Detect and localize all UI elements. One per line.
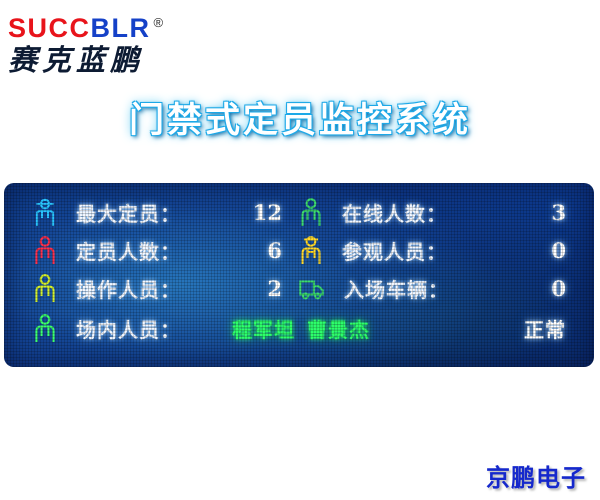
person-icon <box>32 313 58 343</box>
person-icon <box>32 235 58 265</box>
registered-trademark-icon: ® <box>154 15 164 30</box>
led-value: 2 <box>267 276 282 301</box>
led-row: 定员人数： 6 参观人员： 0 <box>32 231 566 269</box>
led-content: 最大定员： 12 在线人数： 3 <box>32 193 566 357</box>
page-title: 门禁式定员监控系统 <box>0 92 600 143</box>
person-icon <box>32 273 58 303</box>
personnel-name: 程军坦 <box>232 318 295 342</box>
logo-wordmark: SUCCBLR® <box>8 8 228 43</box>
truck-icon <box>298 273 326 303</box>
footer-brand: 京鹏电子 <box>486 458 586 493</box>
company-logo: SUCCBLR® 赛克蓝鹏 <box>8 8 228 70</box>
logo-wordmark-blue: BLR <box>91 13 151 43</box>
personnel-name: 曹景杰 <box>307 318 370 342</box>
logo-chinese-name: 赛克蓝鹏 <box>8 44 228 76</box>
led-cell-visitor-count: 参观人员： 0 <box>298 231 566 269</box>
led-cell-operator-count: 操作人员： 2 <box>32 269 290 307</box>
led-label: 场内人员： <box>76 314 181 343</box>
led-row: 最大定员： 12 在线人数： 3 <box>32 193 566 231</box>
logo-wordmark-red: SUCC <box>8 13 91 43</box>
led-label: 操作人员： <box>76 274 181 303</box>
led-cell-vehicle-count: 入场车辆： 0 <box>298 269 566 307</box>
status-badge: 正常 <box>524 314 566 343</box>
led-cell-max-capacity: 最大定员： 12 <box>32 193 290 231</box>
led-label: 最大定员： <box>76 198 181 227</box>
led-cell-online-count: 在线人数： 3 <box>298 193 566 231</box>
led-label: 参观人员： <box>342 236 447 265</box>
led-label: 定员人数： <box>76 236 181 265</box>
onsite-personnel-names: 程军坦曹景杰 <box>232 314 370 343</box>
led-label: 在线人数： <box>342 198 447 227</box>
led-row-roster: 场内人员： 程军坦曹景杰 正常 <box>32 309 566 349</box>
led-cell-registered-count: 定员人数： 6 <box>32 231 290 269</box>
led-display-panel: 最大定员： 12 在线人数： 3 <box>4 183 594 367</box>
led-label: 入场车辆： <box>344 274 449 303</box>
led-value: 3 <box>551 200 566 225</box>
led-value: 0 <box>551 238 566 263</box>
led-value: 6 <box>267 238 282 263</box>
led-value: 0 <box>551 276 566 301</box>
led-row: 操作人员： 2 入场车辆： 0 <box>32 269 566 307</box>
person-visitor-icon <box>298 235 324 265</box>
led-cell-onsite-personnel: 场内人员： 程军坦曹景杰 正常 <box>32 309 566 347</box>
person-icon <box>298 197 324 227</box>
person-hardhat-icon <box>32 197 58 227</box>
led-value: 12 <box>253 200 282 225</box>
